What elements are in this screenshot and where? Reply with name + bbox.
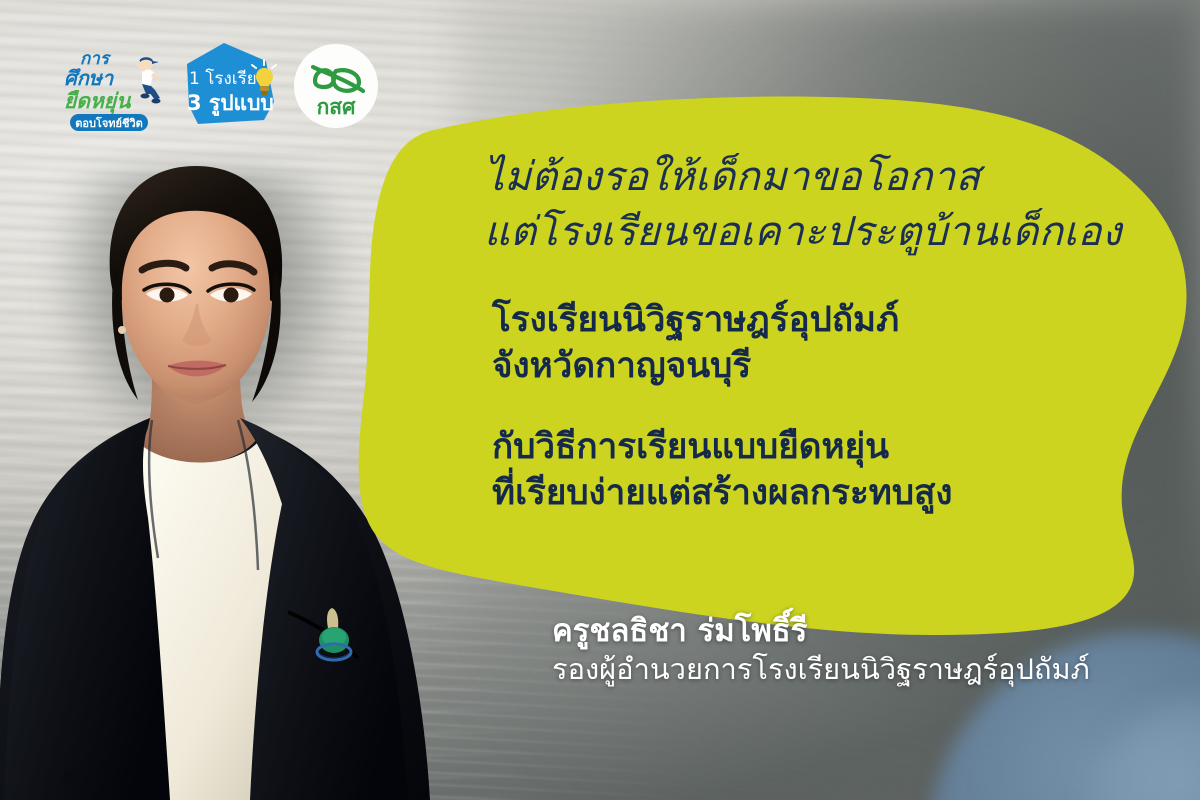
school-line-2: จังหวัดกาญจนบุรี — [492, 343, 1192, 389]
poster-canvas: ไม่ต้องรอให้เด็กมาขอโอกาส แต่โรงเรียนขอเ… — [0, 0, 1200, 800]
logo-flex-badge: ตอบโจทย์ชีวิต — [75, 116, 143, 130]
method-line-1: กับวิธีการเรียนแบบยืดหยุ่น — [492, 424, 1192, 470]
quote-block: ไม่ต้องรอให้เด็กมาขอโอกาส แต่โรงเรียนขอเ… — [484, 150, 1184, 260]
logo-flex-line2: ศึกษา — [64, 66, 115, 90]
credit-name: ครูชลธิชา ร่มโพธิ์รี — [552, 612, 1192, 651]
logo-bar: การ ศึกษา ยืดหยุ่น ตอบโจทย์ชีวิต — [58, 36, 381, 136]
school-name-block: โรงเรียนนิวิฐราษฎร์อุปถัมภ์ จังหวัดกาญจน… — [492, 297, 1192, 389]
credit-role: รองผู้อำนวยการโรงเรียนนิวิฐราษฎร์อุปถัมภ… — [552, 651, 1192, 689]
eef-abbr: กสศ — [317, 95, 357, 119]
method-block: กับวิธีการเรียนแบบยืดหยุ่น ที่เรียบง่ายแ… — [492, 424, 1192, 516]
running-student-icon — [136, 57, 161, 103]
logo-eef[interactable]: กสศ — [291, 41, 381, 131]
quote-line-2: แต่โรงเรียนขอเคาะประตูบ้านเด็กเอง — [484, 205, 1184, 260]
credit-block: ครูชลธิชา ร่มโพธิ์รี รองผู้อำนวยการโรงเร… — [552, 612, 1192, 689]
logo-flex-line3: ยืดหยุ่น — [64, 89, 132, 114]
quote-line-1: ไม่ต้องรอให้เด็กมาขอโอกาส — [484, 150, 1184, 205]
logo-one-school-three-formats[interactable]: 1 โรงเรียน 3 รูปแบบ — [178, 40, 283, 132]
method-line-2: ที่เรียบง่ายแต่สร้างผลกระทบสูง — [492, 470, 1192, 516]
logo-flexible-education[interactable]: การ ศึกษา ยืดหยุ่น ตอบโจทย์ชีวิต — [58, 38, 170, 134]
logo-house-line2: 3 รูปแบบ — [187, 91, 274, 117]
school-line-1: โรงเรียนนิวิฐราษฎร์อุปถัมภ์ — [492, 297, 1192, 343]
